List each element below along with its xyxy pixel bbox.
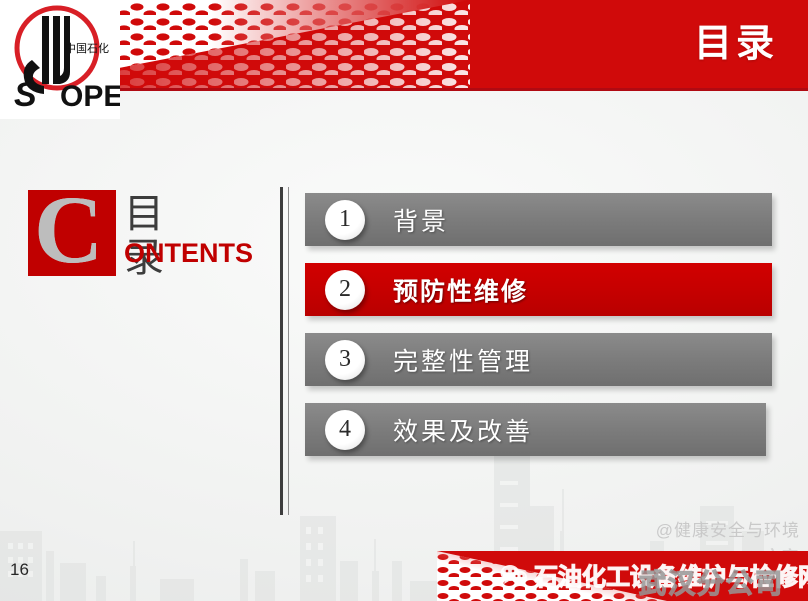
svg-text:中国石化: 中国石化: [65, 41, 109, 55]
menu-number-2: 2: [325, 270, 365, 310]
sinopec-logo-mark: S OPEC 中国石化: [2, 2, 120, 118]
page-number: 16: [10, 560, 29, 580]
menu-label-3: 完整性管理: [393, 342, 533, 378]
menu-label-1: 背景: [393, 202, 449, 238]
page-title: 目录: [694, 22, 778, 66]
menu-label-4: 效果及改善: [393, 412, 533, 448]
contents-latin-title: ONTENTS: [124, 238, 253, 268]
vertical-divider-thin: [288, 187, 289, 515]
wechat-icon: [500, 564, 528, 586]
svg-text:OPEC: OPEC: [60, 80, 120, 113]
watermark-hse: @健康安全与环境: [656, 516, 800, 541]
slide-canvas: 目录 S OPEC 中国石化 C 目 录 ONTENTS: [0, 0, 808, 601]
svg-text:S: S: [14, 76, 37, 114]
menu-number-3: 3: [325, 340, 365, 380]
header-underline: [0, 88, 808, 91]
menu-number-1: 1: [325, 200, 365, 240]
contents-big-c: C: [34, 180, 103, 280]
sinopec-logo: S OPEC 中国石化: [0, 0, 120, 119]
menu-item-1[interactable]: 1 背景: [305, 193, 772, 246]
menu-number-4: 4: [325, 410, 365, 450]
contents-heading: C 目 录 ONTENTS: [28, 190, 278, 280]
menu-item-3[interactable]: 3 完整性管理: [305, 333, 772, 386]
header-banner: 目录: [0, 0, 808, 91]
contents-menu: 1 背景 2 预防性维修 3 完整性管理 4 效果及改善: [305, 193, 775, 473]
menu-item-2[interactable]: 2 预防性维修: [305, 263, 772, 316]
watermark-branch: 武汉分公司: [639, 562, 784, 601]
menu-label-2: 预防性维修: [393, 272, 528, 308]
vertical-divider-thick: [280, 187, 283, 515]
menu-item-4[interactable]: 4 效果及改善: [305, 403, 766, 456]
